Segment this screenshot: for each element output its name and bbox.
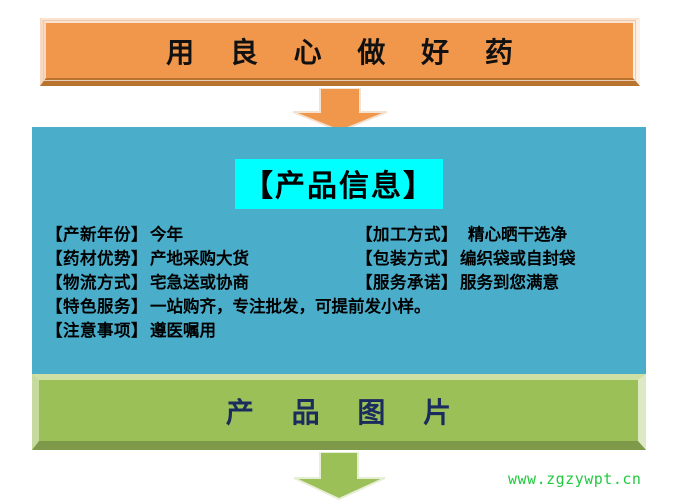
info-row: 【注意事项】 遵医嘱用	[46, 317, 638, 341]
product-info-rows: 【产新年份】 今年 【加工方式】 精心晒干选净 【药材优势】 产地采购大货 【包…	[46, 221, 638, 341]
product-images-text: 产 品 图 片	[212, 391, 465, 431]
info-row-right: 【包装方式】 编织袋或自封袋	[356, 245, 576, 269]
field-key: 【加工方式】	[356, 221, 458, 245]
down-arrow-icon-top	[290, 88, 390, 132]
field-value: 遵医嘱用	[150, 317, 216, 341]
field-key: 【服务承诺】	[356, 269, 458, 293]
info-row: 【药材优势】 产地采购大货 【包装方式】 编织袋或自封袋	[46, 245, 638, 269]
info-row-right: 【服务承诺】 服务到您满意	[356, 269, 559, 293]
field-value: 编织袋或自封袋	[460, 245, 576, 269]
info-row: 【产新年份】 今年 【加工方式】 精心晒干选净	[46, 221, 638, 245]
down-arrow-icon-bottom	[292, 452, 388, 500]
info-row-left: 【物流方式】 宅急送或协商	[46, 269, 356, 293]
field-key: 【包装方式】	[356, 245, 458, 269]
field-value: 产地采购大货	[150, 245, 249, 269]
field-key: 【物流方式】	[46, 269, 148, 293]
promo-banner-canvas: 用 良 心 做 好 药 【产品信息】 【产新年份】 今年 【加工方式】 精心晒干…	[0, 0, 680, 500]
field-value: 一站购齐，专注批发，可提前发小样。	[150, 293, 431, 317]
field-key: 【产新年份】	[46, 221, 148, 245]
product-info-panel: 【产品信息】 【产新年份】 今年 【加工方式】 精心晒干选净 【药材优势】 产地…	[32, 127, 646, 378]
field-value: 服务到您满意	[460, 269, 559, 293]
field-value: 精心晒干选净	[468, 221, 567, 245]
product-info-title: 【产品信息】	[235, 159, 443, 209]
field-value: 今年	[150, 221, 183, 245]
field-value: 宅急送或协商	[150, 269, 249, 293]
info-row-right: 【加工方式】 精心晒干选净	[356, 221, 567, 245]
field-key: 【注意事项】	[46, 317, 148, 341]
slogan-text: 用 良 心 做 好 药	[153, 31, 526, 71]
field-key: 【特色服务】	[46, 293, 148, 317]
info-row-left: 【药材优势】 产地采购大货	[46, 245, 356, 269]
field-key: 【药材优势】	[46, 245, 148, 269]
product-info-title-wrap: 【产品信息】	[32, 159, 646, 209]
info-row: 【特色服务】 一站购齐，专注批发，可提前发小样。	[46, 293, 638, 317]
info-row-left: 【产新年份】 今年	[46, 221, 356, 245]
product-images-banner: 产 品 图 片	[32, 374, 646, 450]
watermark-text: www.zgzywpt.cn	[508, 470, 641, 488]
info-row: 【物流方式】 宅急送或协商 【服务承诺】 服务到您满意	[46, 269, 638, 293]
slogan-banner: 用 良 心 做 好 药	[40, 18, 640, 86]
